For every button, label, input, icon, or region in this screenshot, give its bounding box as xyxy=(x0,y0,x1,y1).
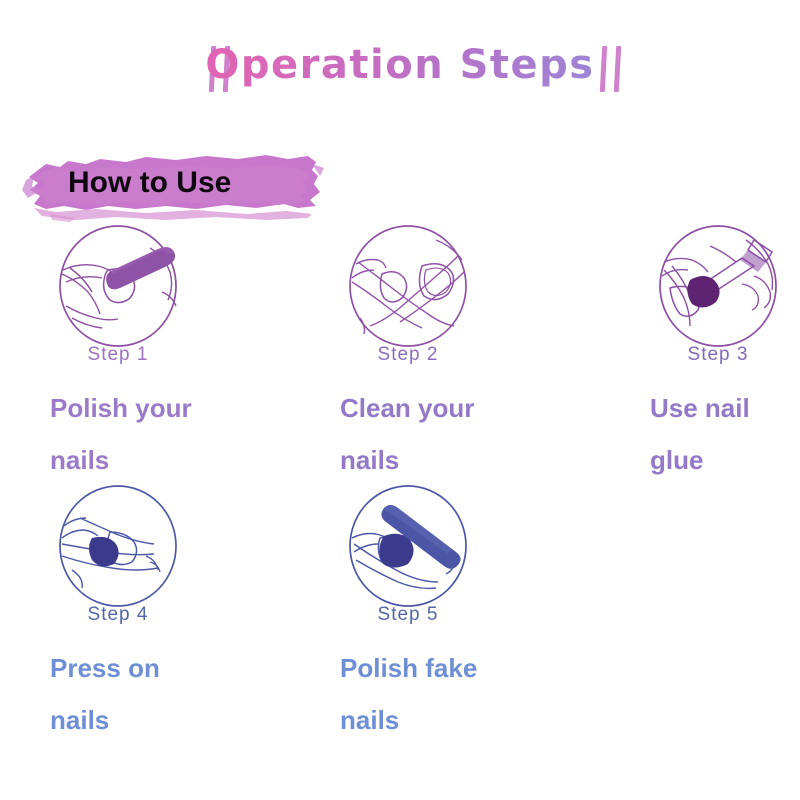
step-card-2: Step 2 Clean your nails xyxy=(318,222,548,486)
steps-container: Step 1 Polish your nails xyxy=(0,222,800,742)
step-3-illustration xyxy=(650,222,790,356)
step-2-illustration xyxy=(340,222,480,356)
step-5-caption: Polish fake nails xyxy=(340,642,490,746)
press-fake-nail-icon xyxy=(50,482,190,616)
how-to-use-label: How to Use xyxy=(68,166,231,200)
page-header: Operation Steps xyxy=(0,34,800,104)
step-3-label: Step 3 xyxy=(650,344,786,366)
steps-row-1: Step 1 Polish your nails xyxy=(0,222,800,482)
step-4-illustration xyxy=(50,482,190,616)
two-fingers-wipe-icon xyxy=(340,222,480,356)
how-to-use-banner: How to Use xyxy=(16,150,326,224)
file-fake-nail-icon xyxy=(340,482,480,616)
finger-with-nail-file-icon xyxy=(50,222,190,356)
step-4-label: Step 4 xyxy=(50,604,186,626)
step-card-1: Step 1 Polish your nails xyxy=(28,222,258,486)
decoration-bar-icon xyxy=(600,46,607,92)
step-5-illustration xyxy=(340,482,480,616)
step-card-3: Step 3 Use nail glue xyxy=(628,222,800,486)
steps-row-2: Step 4 Press on nails xyxy=(0,482,800,742)
step-2-caption: Clean your nails xyxy=(340,382,490,486)
step-card-4: Step 4 Press on nails xyxy=(28,482,258,746)
step-1-label: Step 1 xyxy=(50,344,186,366)
step-card-5: Step 5 Polish fake nails xyxy=(318,482,548,746)
glue-brush-on-nail-icon xyxy=(650,222,790,356)
step-4-caption: Press on nails xyxy=(50,642,200,746)
step-5-label: Step 5 xyxy=(340,604,476,626)
step-1-illustration xyxy=(50,222,190,356)
step-3-caption: Use nail glue xyxy=(650,382,790,486)
title-decoration-right xyxy=(598,46,632,92)
step-2-label: Step 2 xyxy=(340,344,476,366)
step-1-caption: Polish your nails xyxy=(50,382,200,486)
decoration-bar-icon xyxy=(614,46,621,92)
page-title: Operation Steps xyxy=(0,34,800,96)
